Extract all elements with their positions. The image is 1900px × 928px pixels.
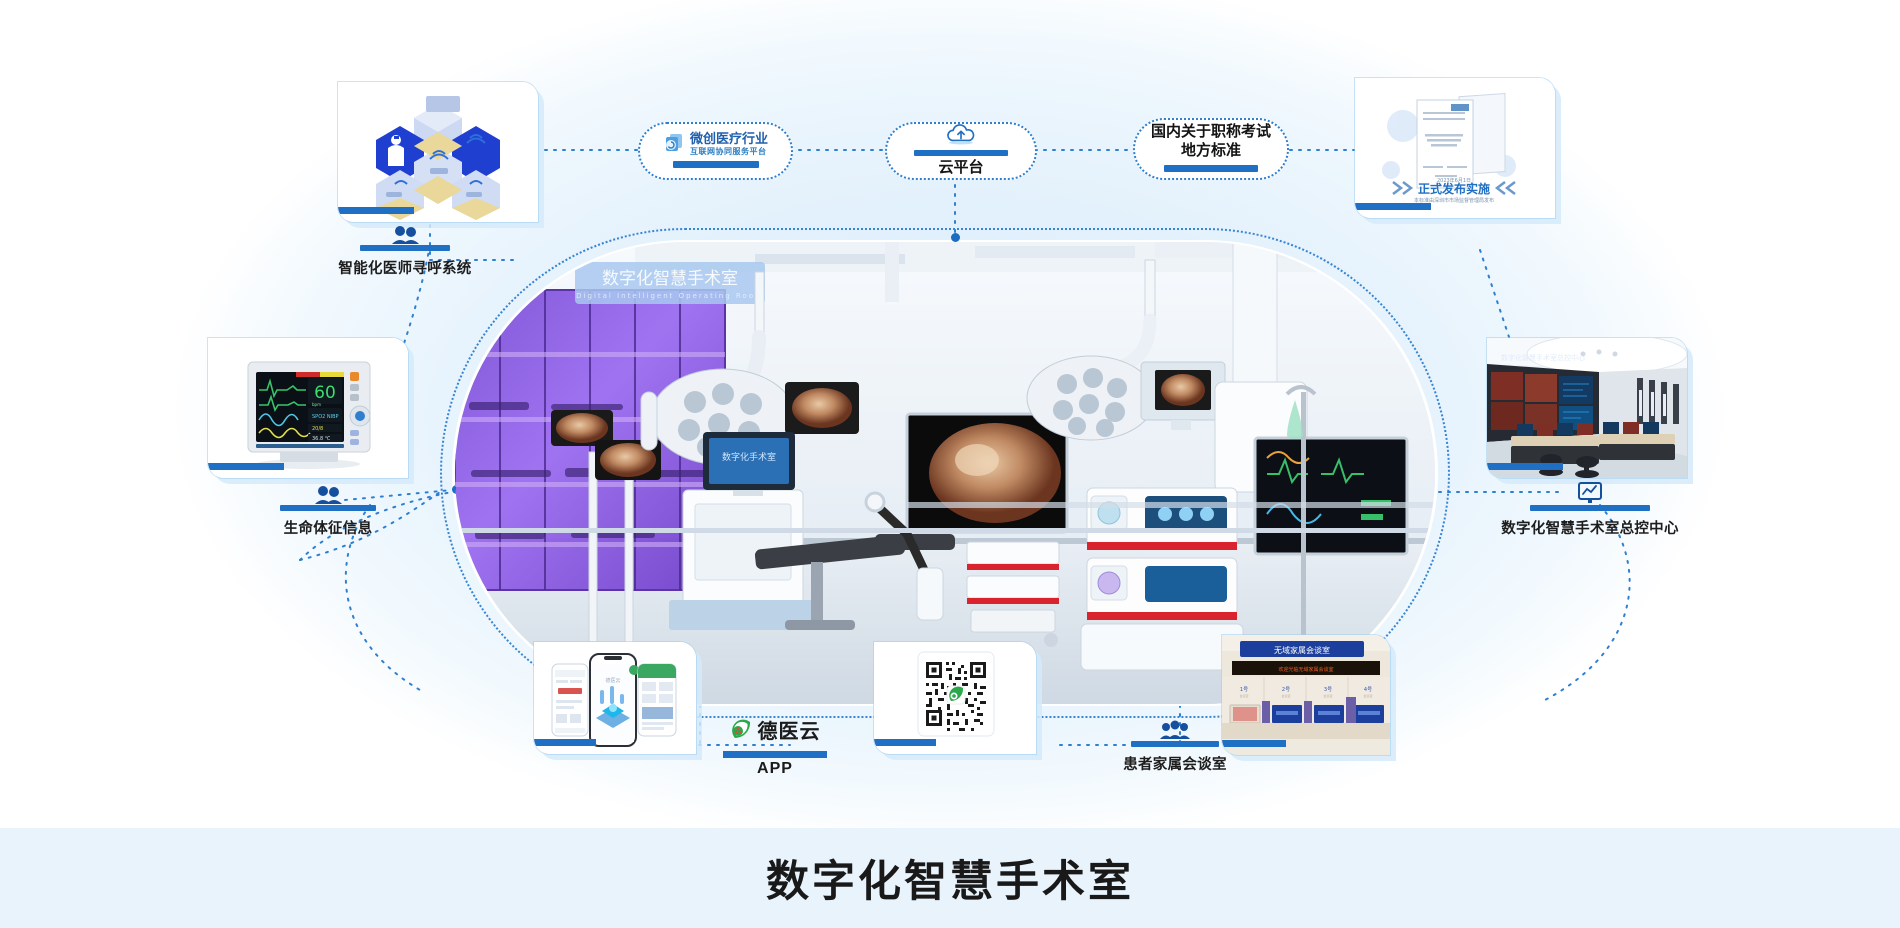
- node-label: 数字化智慧手术室总控中心: [1480, 517, 1700, 538]
- panel-accent-bar: [1487, 463, 1563, 470]
- pill-micro-invasive-platform[interactable]: 微创医疗行业 互联网协同服务平台: [638, 122, 793, 180]
- pill-label: 云平台: [938, 159, 983, 178]
- brand-accent-bar: [723, 751, 827, 758]
- svg-text:SPO2 NIBP: SPO2 NIBP: [312, 414, 339, 420]
- svg-text:会谈室: 会谈室: [1281, 693, 1290, 698]
- svg-text:数字化智慧手术室: 数字化智慧手术室: [602, 269, 738, 289]
- brand-name: 德医云: [758, 715, 821, 744]
- paging-system-illustration: [338, 82, 538, 222]
- node-label: 患者家属会谈室: [1075, 753, 1275, 774]
- svg-text:无域家属会谈室: 无域家属会谈室: [1274, 645, 1330, 655]
- standard-document-illustration: 正式发布实施 2023年6月1日 本标准由深圳市市场监督管理局发布: [1355, 78, 1555, 218]
- pill-line1: 微创医疗行业: [690, 131, 768, 147]
- control-center-photo: 数字化智慧手术室总控中心: [1487, 338, 1687, 478]
- node-doctor-paging-system[interactable]: 智能化医师寻呼系统: [300, 222, 510, 278]
- panel-accent-bar: [338, 207, 414, 214]
- svg-text:会谈室: 会谈室: [1239, 693, 1248, 698]
- panel-app-phones[interactable]: 德医云: [534, 642, 696, 754]
- pill-cloud-platform[interactable]: 云平台: [885, 122, 1037, 180]
- svg-text:3号: 3号: [1324, 687, 1332, 693]
- patient-monitor-illustration: 60 bpm SPO2 NIBP 20/8 36.8 ℃: [208, 338, 408, 478]
- page-title-band: 数字化智慧手术室: [0, 828, 1900, 928]
- people-pair-icon: [228, 482, 428, 504]
- pill-accent-bar: [914, 150, 1008, 156]
- svg-text:36.8 ℃: 36.8 ℃: [312, 436, 331, 442]
- panel-qr-code[interactable]: [874, 642, 1036, 754]
- panel-doctor-paging-system[interactable]: [338, 82, 538, 222]
- node-control-center[interactable]: 数字化智慧手术室总控中心: [1480, 482, 1700, 538]
- pill-line1: 国内关于职称考试: [1151, 123, 1271, 142]
- ring-anchor-top: [951, 233, 960, 242]
- app-tile-icon: [663, 133, 685, 155]
- pill-line2: 地方标准: [1181, 142, 1241, 161]
- svg-text:会谈室: 会谈室: [1323, 693, 1332, 698]
- pill-line2: 互联网协同服务平台: [690, 147, 768, 157]
- people-group-icon: [1075, 718, 1275, 740]
- panel-standard-document[interactable]: 正式发布实施 2023年6月1日 本标准由深圳市市场监督管理局发布: [1355, 78, 1555, 218]
- people-pair-icon: [300, 222, 510, 244]
- panel-vital-signs-monitor[interactable]: 60 bpm SPO2 NIBP 20/8 36.8 ℃: [208, 338, 408, 478]
- svg-text:数字化智慧手术室总控中心: 数字化智慧手术室总控中心: [1501, 353, 1585, 362]
- svg-text:欢迎光临无域家属会谈室: 欢迎光临无域家属会谈室: [1278, 666, 1333, 673]
- page-title: 数字化智慧手术室: [766, 847, 1134, 909]
- node-label: 智能化医师寻呼系统: [300, 257, 510, 278]
- svg-text:数字化手术室: 数字化手术室: [722, 451, 776, 463]
- brand-label: APP: [700, 760, 850, 778]
- svg-text:会谈室: 会谈室: [1363, 693, 1372, 698]
- node-family-consultation-room[interactable]: 患者家属会谈室: [1075, 718, 1275, 774]
- panel-accent-bar: [874, 739, 936, 746]
- node-vital-signs[interactable]: 生命体征信息: [228, 482, 428, 538]
- qr-code-image: [874, 642, 1036, 754]
- svg-text:2号: 2号: [1282, 687, 1290, 693]
- app-phones-illustration: 德医云: [534, 642, 696, 754]
- node-accent-bar: [1530, 505, 1650, 511]
- brand-deyiyun-app[interactable]: 德医云 APP: [700, 715, 850, 778]
- svg-text:德医云: 德医云: [605, 677, 620, 684]
- pill-accent-bar: [673, 161, 759, 168]
- svg-text:1号: 1号: [1240, 687, 1248, 693]
- node-label: 生命体征信息: [228, 517, 428, 538]
- svg-text:bpm: bpm: [312, 402, 321, 407]
- panel-accent-bar: [534, 739, 596, 746]
- svg-text:4号: 4号: [1364, 687, 1372, 693]
- svg-text:20/8: 20/8: [312, 426, 323, 432]
- panel-accent-bar: [1355, 203, 1431, 210]
- panel-accent-bar: [208, 463, 284, 470]
- pill-accent-bar: [1164, 165, 1258, 172]
- svg-text:2023年6月1日: 2023年6月1日: [1437, 177, 1471, 184]
- node-accent-bar: [280, 505, 376, 511]
- svg-text:60: 60: [314, 383, 336, 403]
- infographic-root: 数字化智慧手术室 Digital Intelligent Operating R…: [0, 0, 1900, 928]
- deyiyun-leaf-icon: [730, 719, 752, 741]
- panel-control-center[interactable]: 数字化智慧手术室总控中心: [1487, 338, 1687, 478]
- node-accent-bar: [1131, 741, 1219, 747]
- node-accent-bar: [360, 245, 450, 251]
- svg-text:Digital Intelligent Operating: Digital Intelligent Operating Room: [576, 292, 764, 300]
- monitor-chart-icon: [1480, 482, 1700, 504]
- pill-national-standard[interactable]: 国内关于职称考试 地方标准: [1133, 118, 1289, 180]
- cloud-upload-icon: [942, 124, 980, 146]
